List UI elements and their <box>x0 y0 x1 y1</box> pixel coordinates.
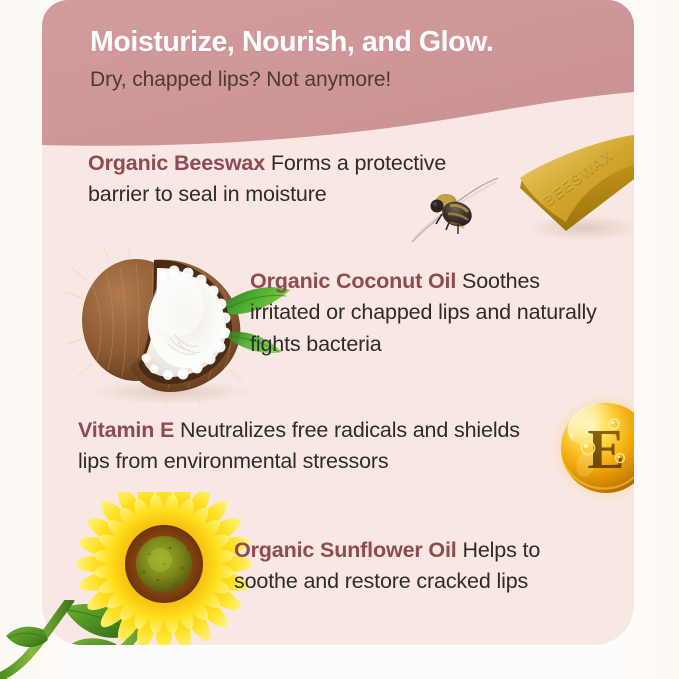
page-subtitle: Dry, chapped lips? Not anymore! <box>90 68 634 92</box>
header-text-group: Moisturize, Nourish, and Glow. Dry, chap… <box>42 0 634 150</box>
benefit-coconut-highlight: Organic Coconut Oil <box>250 269 456 293</box>
vitamin-e-letter: E <box>587 419 624 481</box>
benefit-coconut: Organic Coconut Oil Soothes irritated or… <box>250 266 610 360</box>
vitamin-e-capsule-image: E <box>550 392 634 504</box>
content-panel: Moisturize, Nourish, and Glow. Dry, chap… <box>42 0 634 645</box>
infographic-canvas: Moisturize, Nourish, and Glow. Dry, chap… <box>0 0 679 679</box>
page-title: Moisturize, Nourish, and Glow. <box>90 26 634 59</box>
benefit-sunflower-text: Organic Sunflower Oil Helps to soothe an… <box>234 535 599 598</box>
benefit-sunflower: Organic Sunflower Oil Helps to soothe an… <box>234 535 599 598</box>
benefit-vitamin-e-highlight: Vitamin E <box>78 418 174 442</box>
benefit-beeswax-text: Organic Beeswax Forms a protective barri… <box>88 148 508 211</box>
benefit-vitamin-e: Vitamin E Neutralizes free radicals and … <box>78 415 548 478</box>
benefit-vitamin-e-text: Vitamin E Neutralizes free radicals and … <box>78 415 548 478</box>
benefit-beeswax: Organic Beeswax Forms a protective barri… <box>88 148 508 211</box>
benefit-sunflower-highlight: Organic Sunflower Oil <box>234 538 457 562</box>
benefit-coconut-text: Organic Coconut Oil Soothes irritated or… <box>250 266 610 360</box>
sunflower-image <box>46 492 258 645</box>
benefit-beeswax-highlight: Organic Beeswax <box>88 151 265 175</box>
